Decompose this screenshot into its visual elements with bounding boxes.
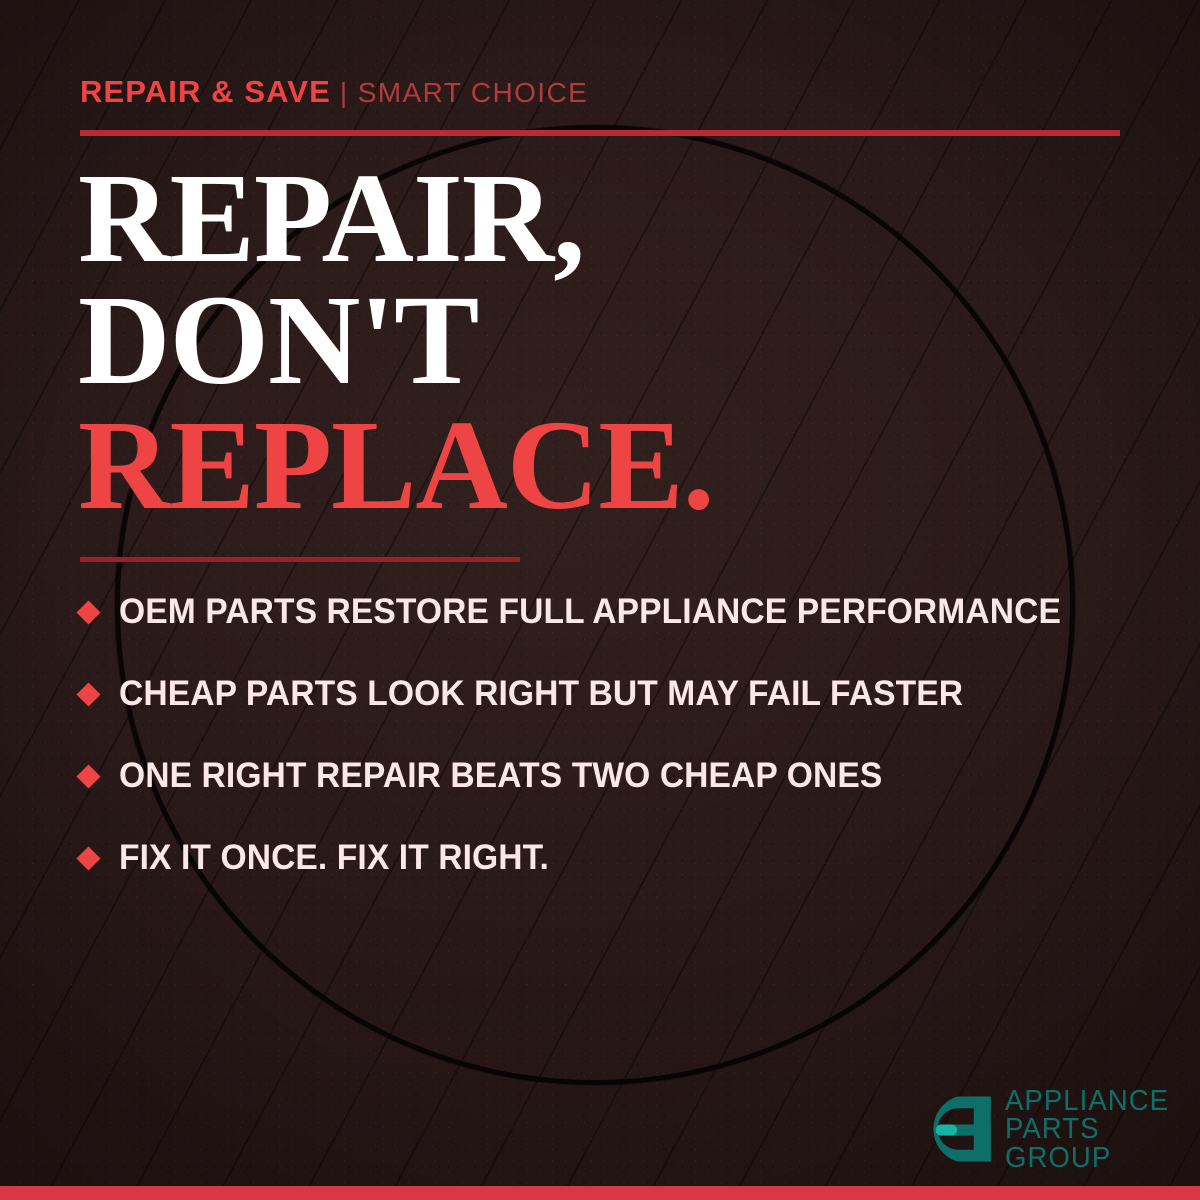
appliance-parts-group-g-icon — [919, 1092, 993, 1166]
eyebrow-main-label: REPAIR & SAVE — [80, 74, 331, 109]
brand-logo-wordmark: APPLIANCE PARTS GROUP — [1005, 1087, 1178, 1172]
headline: REPAIR, DON'T REPLACE. — [78, 158, 714, 527]
list-item: ONE RIGHT REPAIR BEATS TWO CHEAP ONES — [80, 754, 1150, 798]
headline-line-3: REPLACE. — [78, 405, 714, 527]
poster-content: REPAIR & SAVE| SMART CHOICE REPAIR, DON'… — [0, 0, 1200, 1200]
headline-line-2: DON'T — [78, 280, 714, 402]
eyebrow-sub-label: | SMART CHOICE — [340, 77, 588, 108]
list-item-label: FIX IT ONCE. FIX IT RIGHT. — [119, 838, 549, 878]
list-item: OEM PARTS RESTORE FULL APPLIANCE PERFORM… — [80, 590, 1150, 634]
header-divider-rule — [80, 130, 1120, 136]
diamond-bullet-icon — [76, 600, 100, 624]
diamond-bullet-icon — [76, 846, 100, 870]
brand-logo-line-1: APPLIANCE — [1005, 1087, 1169, 1115]
poster-canvas: REPAIR & SAVE| SMART CHOICE REPAIR, DON'… — [0, 0, 1200, 1200]
bottom-accent-bar — [0, 1186, 1200, 1200]
list-item-label: CHEAP PARTS LOOK RIGHT BUT MAY FAIL FAST… — [119, 674, 963, 714]
brand-logo-line-2: PARTS — [1005, 1115, 1169, 1143]
eyebrow: REPAIR & SAVE| SMART CHOICE — [80, 76, 588, 107]
list-item-label: ONE RIGHT REPAIR BEATS TWO CHEAP ONES — [119, 756, 882, 796]
brand-logo: APPLIANCE PARTS GROUP — [919, 1087, 1178, 1172]
diamond-bullet-icon — [76, 682, 100, 706]
headline-line-1: REPAIR, — [78, 158, 714, 280]
brand-logo-line-3: GROUP — [1005, 1144, 1169, 1172]
list-item-label: OEM PARTS RESTORE FULL APPLIANCE PERFORM… — [119, 592, 1061, 632]
list-item: CHEAP PARTS LOOK RIGHT BUT MAY FAIL FAST… — [80, 672, 1150, 716]
diamond-bullet-icon — [76, 764, 100, 788]
headline-divider-rule — [80, 557, 520, 562]
benefits-list: OEM PARTS RESTORE FULL APPLIANCE PERFORM… — [80, 590, 1150, 880]
list-item: FIX IT ONCE. FIX IT RIGHT. — [80, 836, 1150, 880]
